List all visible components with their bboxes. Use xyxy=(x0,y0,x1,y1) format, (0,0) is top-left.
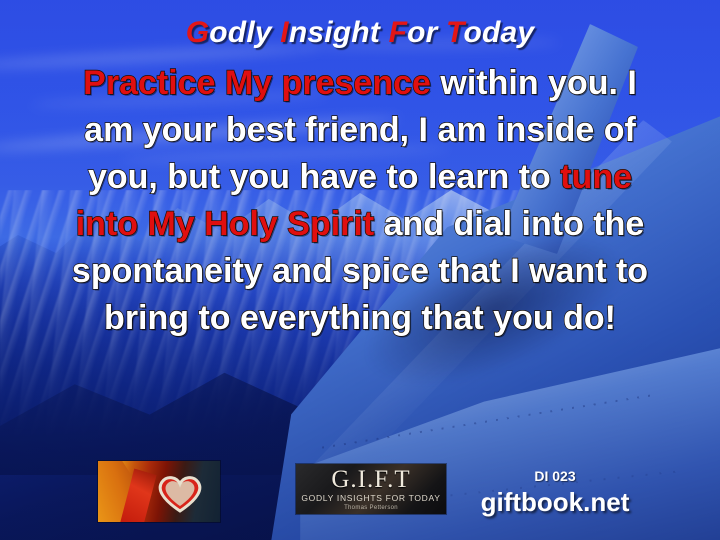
slide-content: Godly Insight For Today Practice My pres… xyxy=(0,0,720,540)
title-run-2: I xyxy=(280,16,289,49)
title-run-5: or xyxy=(407,16,446,49)
body-run-0: Practice My presence xyxy=(83,64,431,102)
title-run-4: F xyxy=(389,16,408,49)
title-run-6: T xyxy=(446,16,463,49)
title-run-7: oday xyxy=(463,16,534,49)
devotional-body-text: Practice My presence within you. I am yo… xyxy=(58,60,662,342)
title-run-1: odly xyxy=(209,16,280,49)
slide-canvas: Godly Insight For Today Practice My pres… xyxy=(0,0,720,540)
slide-title: Godly Insight For Today xyxy=(0,16,720,50)
title-run-3: nsight xyxy=(289,16,389,49)
title-run-0: G xyxy=(186,16,210,49)
